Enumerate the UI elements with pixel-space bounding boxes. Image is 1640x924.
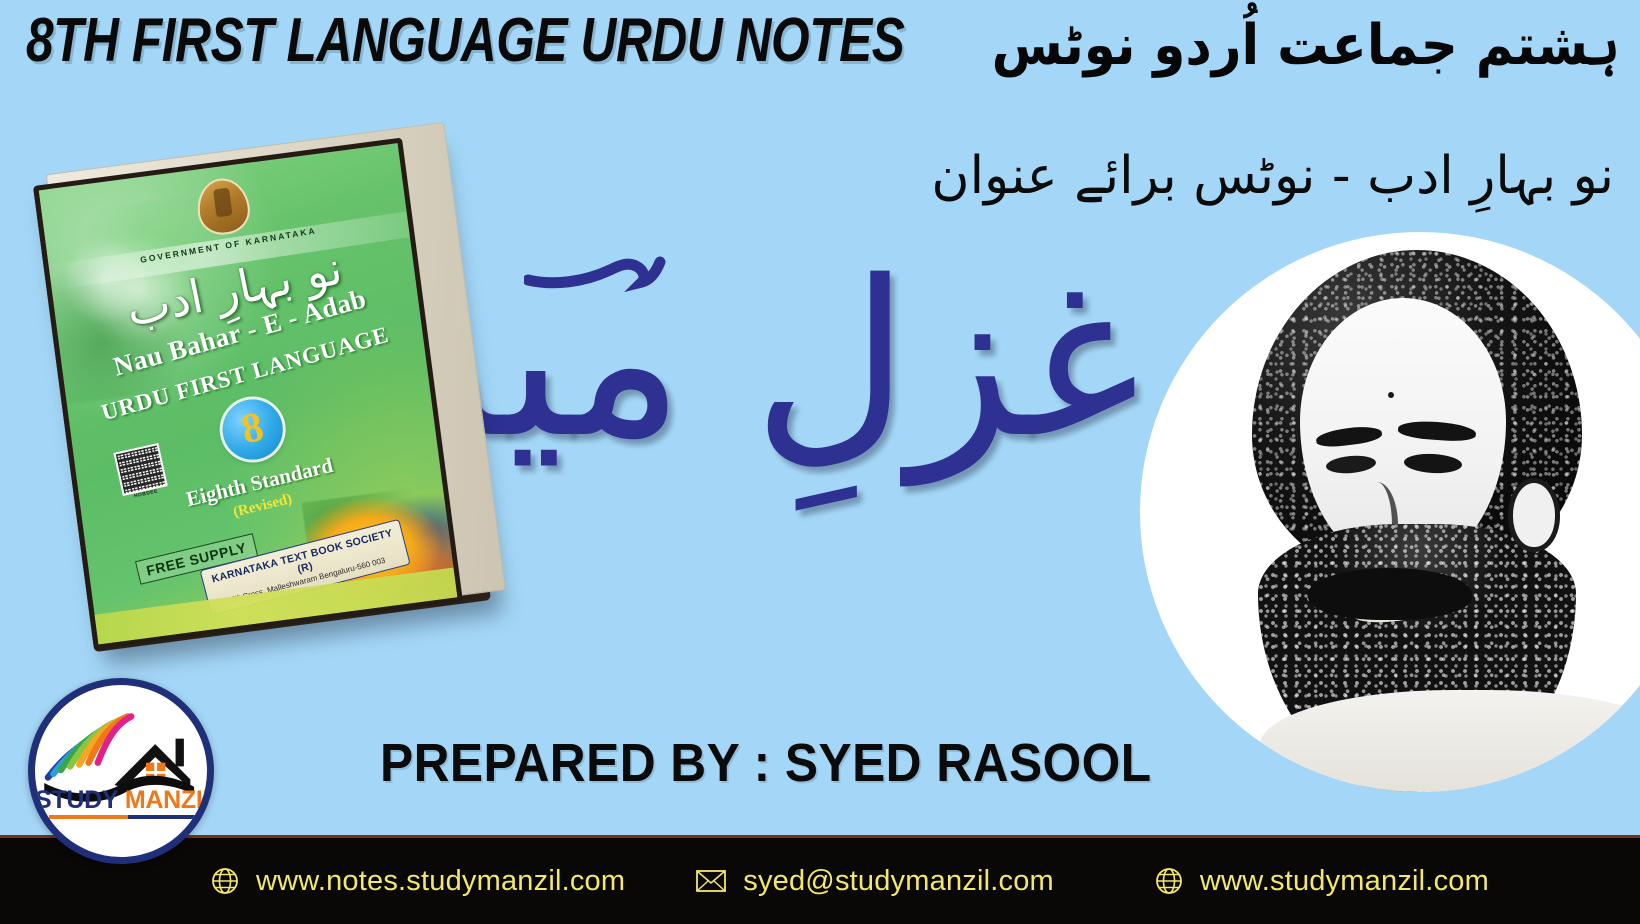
globe-icon [210, 866, 240, 896]
footer-bar: www.notes.studymanzil.com syed@studymanz… [0, 835, 1640, 924]
urdu-subtitle: نو بہارِ ادب - نوٹس برائے عنوان [931, 130, 1614, 222]
logo-word-manzil: MANZIL [125, 786, 214, 814]
textbook-cover-image: GOVERNMENT OF KARNATAKA نو بہارِ ادب Nau… [40, 140, 540, 665]
envelope-icon [695, 868, 727, 894]
study-manzil-logo[interactable]: STUDY MANZIL [28, 678, 214, 864]
qr-code-icon: HOBDEE [113, 443, 169, 504]
portrait-ear [1508, 478, 1560, 552]
footer-email-label: syed@studymanzil.com [743, 865, 1054, 898]
globe-icon [1154, 866, 1184, 896]
poet-portrait [1140, 232, 1640, 792]
book-class-badge: 8 [217, 394, 289, 466]
portrait-moustache [1308, 568, 1472, 620]
karnataka-emblem-icon [193, 175, 254, 240]
portrait-mole [1388, 392, 1394, 398]
logo-underline [49, 815, 207, 819]
logo-word-study: STUDY [35, 786, 118, 814]
poster-canvas: 8TH FIRST LANGUAGE URDU NOTES ہشتم جماعت… [0, 0, 1640, 924]
logo-artwork [35, 685, 207, 857]
footer-link-label: www.studymanzil.com [1200, 865, 1489, 898]
footer-email[interactable]: syed@studymanzil.com [695, 865, 1054, 898]
footer-website-main[interactable]: www.studymanzil.com [1154, 865, 1489, 898]
page-title: 8TH FIRST LANGUAGE URDU NOTES [26, 8, 904, 74]
prepared-by-label: PREPARED BY : SYED RASOOL [380, 733, 1152, 793]
book-pages-fan-icon [48, 716, 131, 777]
logo-wordmark: STUDY MANZIL [35, 786, 207, 815]
portrait-shoulder [1260, 690, 1640, 792]
urdu-title: ہشتم جماعت اُردو نوٹس [992, 0, 1620, 94]
book-front-cover: GOVERNMENT OF KARNATAKA نو بہارِ ادب Nau… [33, 138, 463, 651]
calligraphy-swash-icon [524, 252, 674, 292]
footer-website-notes[interactable]: www.notes.studymanzil.com [210, 865, 625, 898]
footer-link-label: www.notes.studymanzil.com [256, 865, 625, 898]
